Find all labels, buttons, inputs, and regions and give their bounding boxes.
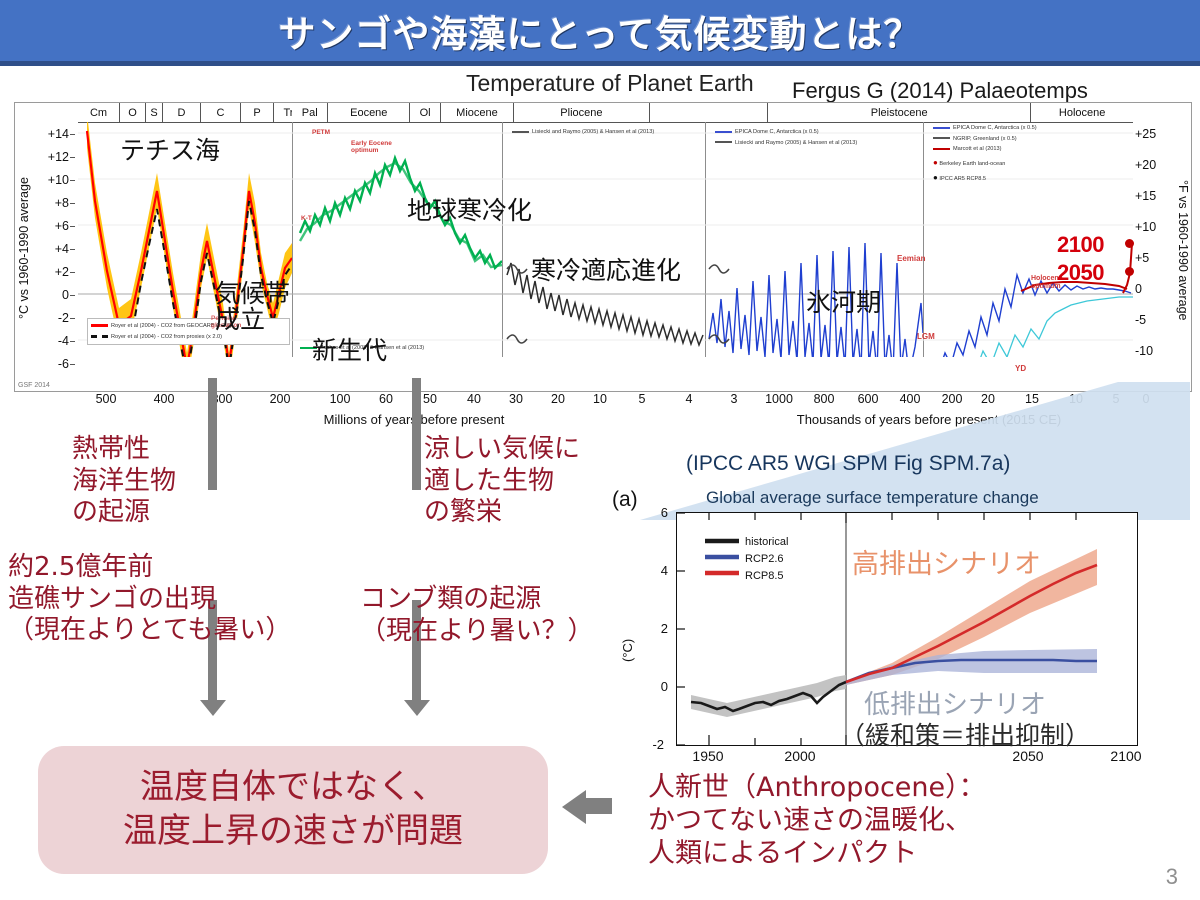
marker-eemian: Eemian bbox=[897, 255, 925, 264]
paleotemp-figure: Temperature of Planet Earth Fergus G (20… bbox=[14, 70, 1190, 422]
ipcc-y-tick: 6 bbox=[634, 505, 668, 520]
x-tick-myr: 4 bbox=[669, 392, 709, 406]
legend-item: Marcott et al (2013) bbox=[933, 144, 1037, 155]
label-high-emission-scenario: 高排出シナリオ bbox=[852, 542, 1041, 581]
ipcc-x-tick: 2000 bbox=[772, 748, 828, 764]
annotation-coral-origin: 約2.5億年前 造礁サンゴの出現 （現在よりとても暑い） bbox=[8, 552, 291, 647]
title-banner: サンゴや海藻にとって気候変動とは？ bbox=[0, 0, 1200, 66]
x-tick-kyr: 200 bbox=[932, 392, 972, 406]
x-tick-kyr: 400 bbox=[890, 392, 930, 406]
x-tick-myr: 3 bbox=[714, 392, 754, 406]
legend-item: Lisiecki and Raymo (2005) & Hansen et al… bbox=[715, 138, 857, 149]
legend-pleistocene: EPICA Dome C, Antarctica (x 0.5) Lisieck… bbox=[715, 127, 857, 148]
page-number: 3 bbox=[1166, 864, 1178, 890]
legend-item: ● Berkeley Earth land-ocean bbox=[933, 155, 1037, 170]
conclusion-arrow-tail bbox=[586, 798, 612, 814]
marker-yd: YD bbox=[1015, 365, 1026, 374]
marker-2100: 2100 bbox=[1057, 233, 1104, 257]
x-tick-kyr: 1000 bbox=[759, 392, 799, 406]
overlay-global-cooling: 地球寒冷化 bbox=[407, 191, 532, 227]
overlay-climate-zone: 気候帯 成立 bbox=[215, 281, 290, 334]
conclusion-arrow-head bbox=[562, 790, 586, 824]
annotation-anthropocene: 人新世（Anthropocene）： かつてない速さの温暖化、 人類によるインパ… bbox=[648, 772, 986, 871]
slide-root: サンゴや海藻にとって気候変動とは？ Temperature of Planet … bbox=[0, 0, 1200, 900]
x-tick-kyr: 15 bbox=[1012, 392, 1052, 406]
marker-petm: PETM bbox=[312, 129, 330, 136]
legend-item: NGRIP, Greenland (x 0.5) bbox=[933, 134, 1037, 145]
ipcc-subtitle: Global average surface temperature chang… bbox=[706, 488, 1039, 508]
marker-2100-dot bbox=[1125, 239, 1134, 248]
x-tick-kyr: 0 bbox=[1126, 392, 1166, 406]
ipcc-y-tick: -2 bbox=[630, 737, 664, 752]
ipcc-y-unit: (°C) bbox=[620, 616, 635, 662]
x-tick-myr: 400 bbox=[144, 392, 184, 406]
x-tick-kyr: 600 bbox=[848, 392, 888, 406]
x-tick-kyr: 800 bbox=[804, 392, 844, 406]
pointer-bar-coral bbox=[208, 378, 217, 490]
legend-item: EPICA Dome C, Antarctica (x 0.5) bbox=[715, 127, 857, 138]
x-tick-myr: 40 bbox=[454, 392, 494, 406]
figure-watermark: GSF 2014 bbox=[18, 382, 50, 389]
overlay-cold-adaptation: 寒冷適応進化 bbox=[531, 251, 681, 287]
x-tick-myr: 500 bbox=[86, 392, 126, 406]
conclusion-line-2: 温度上昇の速さが問題 bbox=[123, 810, 463, 854]
conclusion-box: 温度自体ではなく、 温度上昇の速さが問題 bbox=[38, 746, 548, 874]
legend-item: EPICA Dome C, Antarctica (x 0.5) bbox=[933, 123, 1037, 134]
x-tick-kyr: 10 bbox=[1056, 392, 1096, 406]
conclusion-line-1: 温度自体ではなく、 bbox=[140, 766, 446, 810]
x-axis-label-kyr: Thousands of years before present (2015 … bbox=[764, 412, 1094, 427]
legend-holocene: EPICA Dome C, Antarctica (x 0.5) NGRIP, … bbox=[933, 123, 1037, 185]
x-tick-myr: 20 bbox=[538, 392, 578, 406]
marker-2050: 2050 bbox=[1057, 261, 1104, 285]
legend-label-historical: historical bbox=[745, 534, 788, 551]
page-title: サンゴや海藻にとって気候変動とは？ bbox=[0, 0, 1200, 62]
ipcc-y-tick: 0 bbox=[634, 679, 668, 694]
title-underline bbox=[0, 61, 1200, 66]
ipcc-x-tick: 1950 bbox=[680, 748, 736, 764]
legend-item: ● IPCC AR5 RCP8.5 bbox=[933, 170, 1037, 185]
marker-2050-dot bbox=[1125, 267, 1134, 276]
ipcc-x-tick: 2100 bbox=[1098, 748, 1154, 764]
x-tick-myr: 30 bbox=[496, 392, 536, 406]
marker-kt: K-T bbox=[301, 215, 312, 222]
pointer-arrow-coral bbox=[200, 700, 226, 716]
legend-label-rcp26: RCP2.6 bbox=[745, 551, 788, 568]
annotation-cool-climate: 涼しい気候に 適した生物 の繁栄 bbox=[424, 434, 580, 529]
x-tick-myr: 100 bbox=[320, 392, 360, 406]
ipcc-y-tick: 4 bbox=[634, 563, 668, 578]
x-tick-kyr: 20 bbox=[968, 392, 1008, 406]
ipcc-y-tick: 2 bbox=[634, 621, 668, 636]
overlay-tethys-sea: テチス海 bbox=[120, 131, 220, 167]
marker-early-eocene: Early Eocene optimum bbox=[351, 140, 395, 154]
legend-lisiecki: Lisiecki and Raymo (2005) & Hansen et al… bbox=[512, 127, 654, 138]
annotation-tropical-marine: 熱帯性 海洋生物 の起源 bbox=[72, 434, 176, 529]
x-tick-myr: 10 bbox=[580, 392, 620, 406]
overlay-cenozoic: 新生代 bbox=[312, 331, 387, 367]
paleotemp-credit: Fergus G (2014) Palaeotemps bbox=[792, 78, 1088, 104]
x-tick-myr: 200 bbox=[260, 392, 300, 406]
x-tick-myr: 5 bbox=[622, 392, 662, 406]
ipcc-citation: (IPCC AR5 WGI SPM Fig SPM.7a) bbox=[686, 452, 1010, 476]
paleotemp-title: Temperature of Planet Earth bbox=[466, 70, 754, 97]
label-mitigation-note: （緩和策＝排出抑制） bbox=[840, 716, 1090, 752]
ipcc-legend: historical RCP2.6 RCP8.5 bbox=[745, 534, 788, 585]
annotation-kelp-origin: コンブ類の起源 （現在より暑い？） bbox=[360, 584, 593, 647]
legend-label-rcp85: RCP8.5 bbox=[745, 568, 788, 585]
pointer-arrow-kelp bbox=[404, 700, 430, 716]
marker-lgm: LGM bbox=[917, 333, 935, 342]
pointer-bar-kelp bbox=[412, 378, 421, 490]
x-tick-myr: 60 bbox=[366, 392, 406, 406]
paleotemp-header: Temperature of Planet Earth Fergus G (20… bbox=[14, 70, 1190, 106]
paleotemp-plot-area: Cm O S D C P Tr J K Pal Eocene Ol Miocen… bbox=[14, 102, 1192, 392]
overlay-ice-age: 氷河期 bbox=[806, 283, 881, 319]
